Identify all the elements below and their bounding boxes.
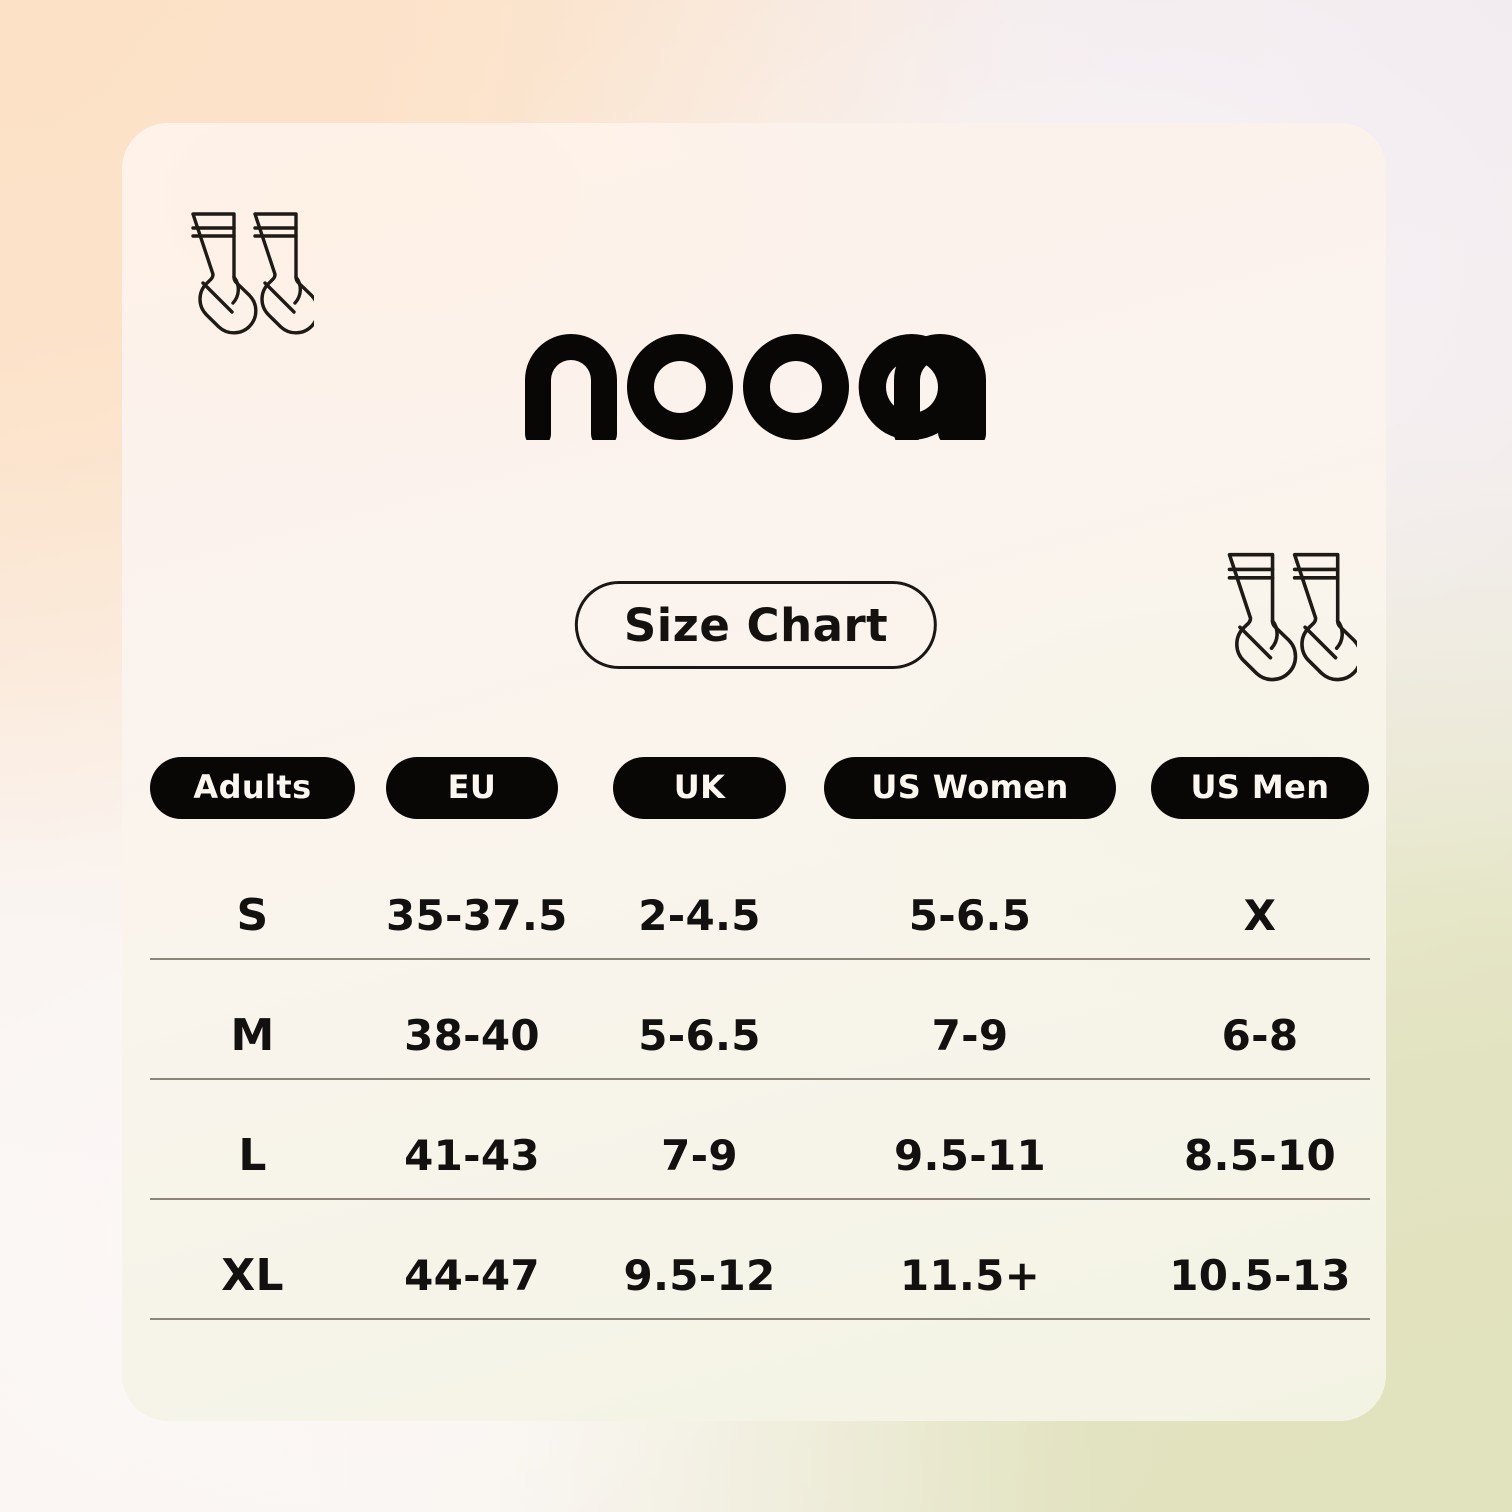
cell-uk: 7-9 bbox=[613, 1131, 786, 1180]
column-header-adults: Adults bbox=[150, 757, 355, 819]
sock-pair-icon bbox=[1207, 540, 1357, 685]
size-chart-badge: Size Chart bbox=[575, 581, 937, 669]
cell-us-men: 6-8 bbox=[1151, 1011, 1369, 1060]
cell-eu: 44-47 bbox=[386, 1251, 558, 1300]
cell-uk: 5-6.5 bbox=[613, 1011, 786, 1060]
table-row: XL 44-47 9.5-12 11.5+ 10.5-13 bbox=[150, 1232, 1370, 1320]
column-header-us-men: US Men bbox=[1151, 757, 1369, 819]
cell-us-men: 10.5-13 bbox=[1151, 1251, 1369, 1300]
cell-size: S bbox=[150, 890, 355, 941]
cell-size: XL bbox=[150, 1250, 355, 1301]
row-spacer bbox=[150, 1200, 1370, 1232]
cell-uk: 9.5-12 bbox=[613, 1251, 786, 1300]
column-header-us-women: US Women bbox=[824, 757, 1116, 819]
cell-us-women: 9.5-11 bbox=[824, 1131, 1116, 1180]
table-row: S 35-37.5 2-4.5 5-6.5 X bbox=[150, 872, 1370, 960]
cell-size: M bbox=[150, 1010, 355, 1061]
cell-eu: 38-40 bbox=[386, 1011, 558, 1060]
row-spacer bbox=[150, 1080, 1370, 1112]
cell-size: L bbox=[150, 1130, 355, 1181]
table-row: M 38-40 5-6.5 7-9 6-8 bbox=[150, 992, 1370, 1080]
table-header-row: Adults EU UK US Women US Men bbox=[150, 752, 1370, 824]
cell-us-women: 7-9 bbox=[824, 1011, 1116, 1060]
cell-uk: 2-4.5 bbox=[613, 891, 786, 940]
column-header-eu: EU bbox=[386, 757, 558, 819]
size-chart-table: Adults EU UK US Women US Men S 35-37.5 2… bbox=[150, 752, 1370, 1320]
cell-us-women: 11.5+ bbox=[824, 1251, 1116, 1300]
table-row: L 41-43 7-9 9.5-11 8.5-10 bbox=[150, 1112, 1370, 1200]
cell-eu: 41-43 bbox=[386, 1131, 558, 1180]
cell-us-men: X bbox=[1151, 891, 1369, 940]
cell-us-women: 5-6.5 bbox=[824, 891, 1116, 940]
sock-pair-icon bbox=[172, 200, 314, 338]
column-header-uk: UK bbox=[613, 757, 786, 819]
cell-eu: 35-37.5 bbox=[386, 891, 558, 940]
row-spacer bbox=[150, 960, 1370, 992]
cell-us-men: 8.5-10 bbox=[1151, 1131, 1369, 1180]
